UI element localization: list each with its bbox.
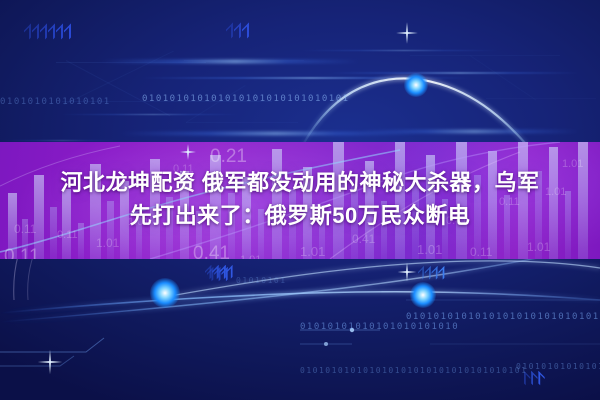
numeric-label: 1.01 [527, 240, 550, 254]
binary-digit-row: 010101010101010101010101010101010101 [300, 366, 527, 375]
guide-line-diagonal [66, 60, 171, 116]
binary-digit-row: 01010101 [236, 276, 287, 285]
sparkle-star-icon [394, 259, 420, 285]
light-streak [100, 60, 360, 63]
guide-line-diagonal [470, 55, 537, 101]
glow-node [150, 278, 180, 308]
glow-node [404, 73, 428, 97]
guide-line [186, 122, 298, 123]
chevron-arrow-icon [418, 269, 444, 281]
glow-node [410, 282, 436, 308]
promo-banner: 0101010101010101010101010101010101010101… [0, 0, 600, 400]
chevron-arrow-icon [24, 27, 71, 41]
chevron-arrow-icon [213, 268, 233, 280]
guide-line [410, 55, 560, 56]
numeric-label: 1.01 [417, 242, 442, 257]
numeric-label: 0.11 [470, 245, 492, 259]
light-streak [60, 114, 240, 115]
chevron-arrow-icon [226, 26, 249, 40]
headline-line-1: 河北龙坤配资 俄军都没动用的神秘大杀器，乌军 [0, 166, 600, 199]
numeric-label: 0.41 [352, 232, 375, 246]
binary-digit-row: 010101010101010101010101 [516, 362, 600, 371]
headline-text: 河北龙坤配资 俄军都没动用的神秘大杀器，乌军 先打出来了：俄罗斯50万民众断电 [0, 166, 600, 232]
chevron-arrow-icon [524, 374, 545, 387]
numeric-label: 0.21 [210, 146, 247, 168]
numeric-label: 0.41 [193, 243, 230, 259]
guide-line [486, 98, 596, 99]
sparkle-star-icon [33, 345, 67, 379]
numeric-label: 0.11 [258, 142, 294, 146]
guide-line [56, 62, 206, 63]
chevron-arrow-icon [207, 270, 228, 283]
binary-digit-row: 01010101010101010101010101010101010 [406, 312, 600, 322]
guide-line-diagonal [186, 85, 246, 123]
light-streak [360, 130, 580, 133]
light-streak [120, 132, 420, 135]
numeric-label: 1.01 [96, 236, 119, 250]
binary-digit-row: 010101010101010101010101010101 [142, 94, 350, 104]
guide-line-diagonal [64, 51, 174, 105]
light-streak [140, 77, 470, 79]
light-streak [0, 140, 120, 141]
light-streak [330, 72, 580, 74]
binary-digit-row: 01010101010101010101010 [300, 322, 459, 332]
numeric-label: 1.01 [240, 254, 261, 259]
light-streak [300, 50, 500, 51]
chevron-arrow-icon [205, 268, 226, 281]
headline-line-2: 先打出来了：俄罗斯50万民众断电 [0, 199, 600, 232]
numeric-label: 1.01 [300, 244, 325, 259]
binary-digit-row: 0101010101010101 [0, 97, 111, 107]
sparkle-star-icon [392, 18, 422, 48]
guide-line [62, 101, 272, 102]
guide-line [184, 60, 304, 61]
numeric-label: 0.11 [4, 246, 40, 259]
